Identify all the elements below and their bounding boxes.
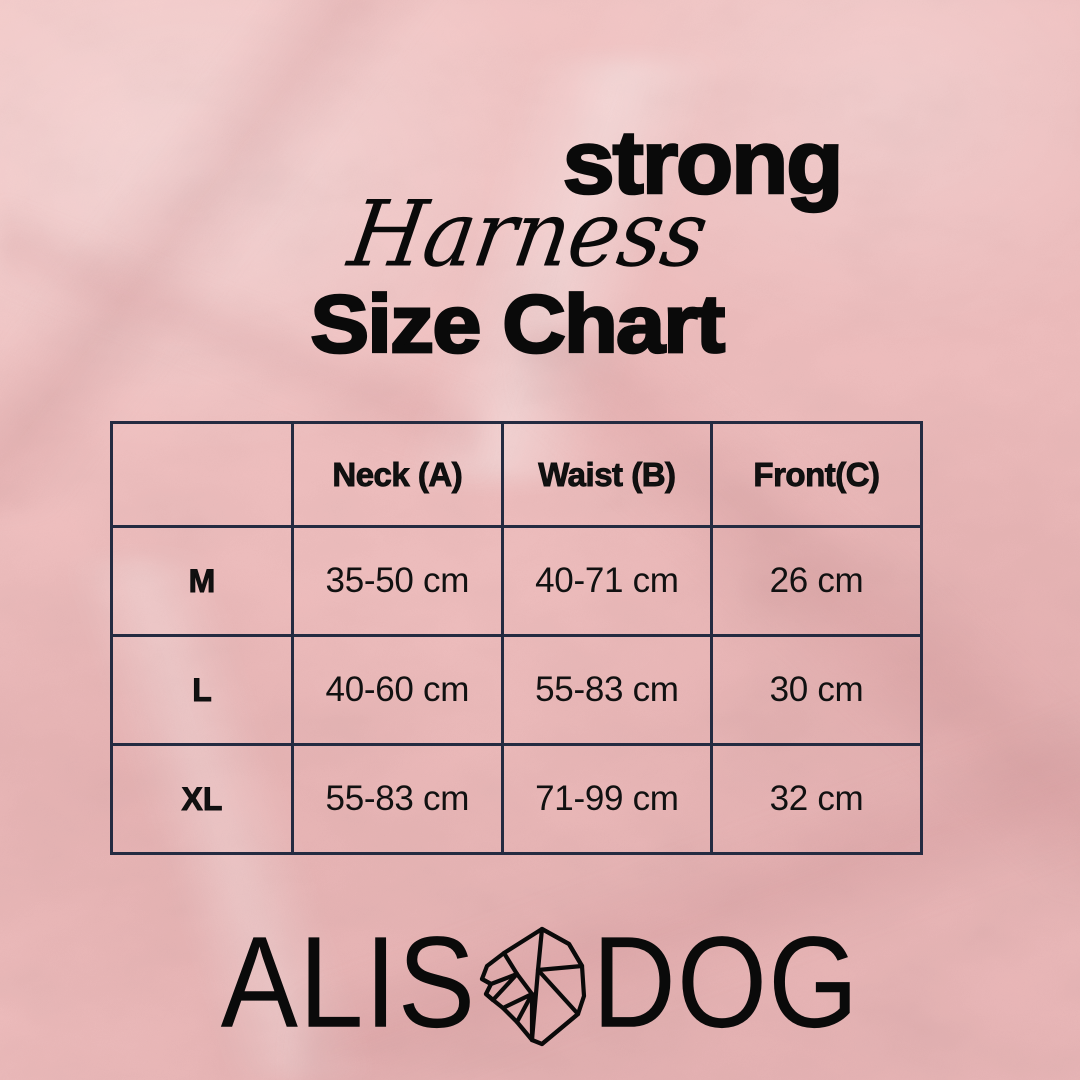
column-header-waist: Waist (B) — [502, 423, 712, 527]
table-row: M 35-50 cm 40-71 cm 26 cm — [112, 527, 922, 636]
logo-text-alis: ALIS — [221, 917, 476, 1047]
column-header-neck: Neck (A) — [293, 423, 503, 527]
cell-size: L — [112, 636, 293, 745]
title-line-size-chart: Size Chart — [0, 284, 1080, 366]
table-row: XL 55-83 cm 71-99 cm 32 cm — [112, 745, 922, 854]
dog-head-icon — [470, 922, 602, 1048]
table-header-row: Neck (A) Waist (B) Front(C) — [112, 423, 922, 527]
table-row: L 40-60 cm 55-83 cm 30 cm — [112, 636, 922, 745]
cell-neck: 40-60 cm — [293, 636, 503, 745]
table-corner-cell — [112, 423, 293, 527]
cell-size: M — [112, 527, 293, 636]
logo-text-dog: DOG — [592, 917, 859, 1047]
cell-front: 32 cm — [712, 745, 922, 854]
cell-waist: 55-83 cm — [502, 636, 712, 745]
cell-size: XL — [112, 745, 293, 854]
cell-front: 26 cm — [712, 527, 922, 636]
brand-logo: ALIS DOG — [0, 912, 1080, 1052]
title-script-harness: Harness — [0, 189, 1075, 280]
page-title: strong Harness Size Chart — [0, 118, 1080, 368]
size-chart-canvas: strong Harness Size Chart Neck (A) Waist… — [0, 0, 1080, 1080]
size-chart-table: Neck (A) Waist (B) Front(C) M 35-50 cm 4… — [110, 421, 923, 855]
cell-waist: 71-99 cm — [502, 745, 712, 854]
cell-front: 30 cm — [712, 636, 922, 745]
column-header-front: Front(C) — [712, 423, 922, 527]
cell-neck: 35-50 cm — [293, 527, 503, 636]
cell-waist: 40-71 cm — [502, 527, 712, 636]
cell-neck: 55-83 cm — [293, 745, 503, 854]
